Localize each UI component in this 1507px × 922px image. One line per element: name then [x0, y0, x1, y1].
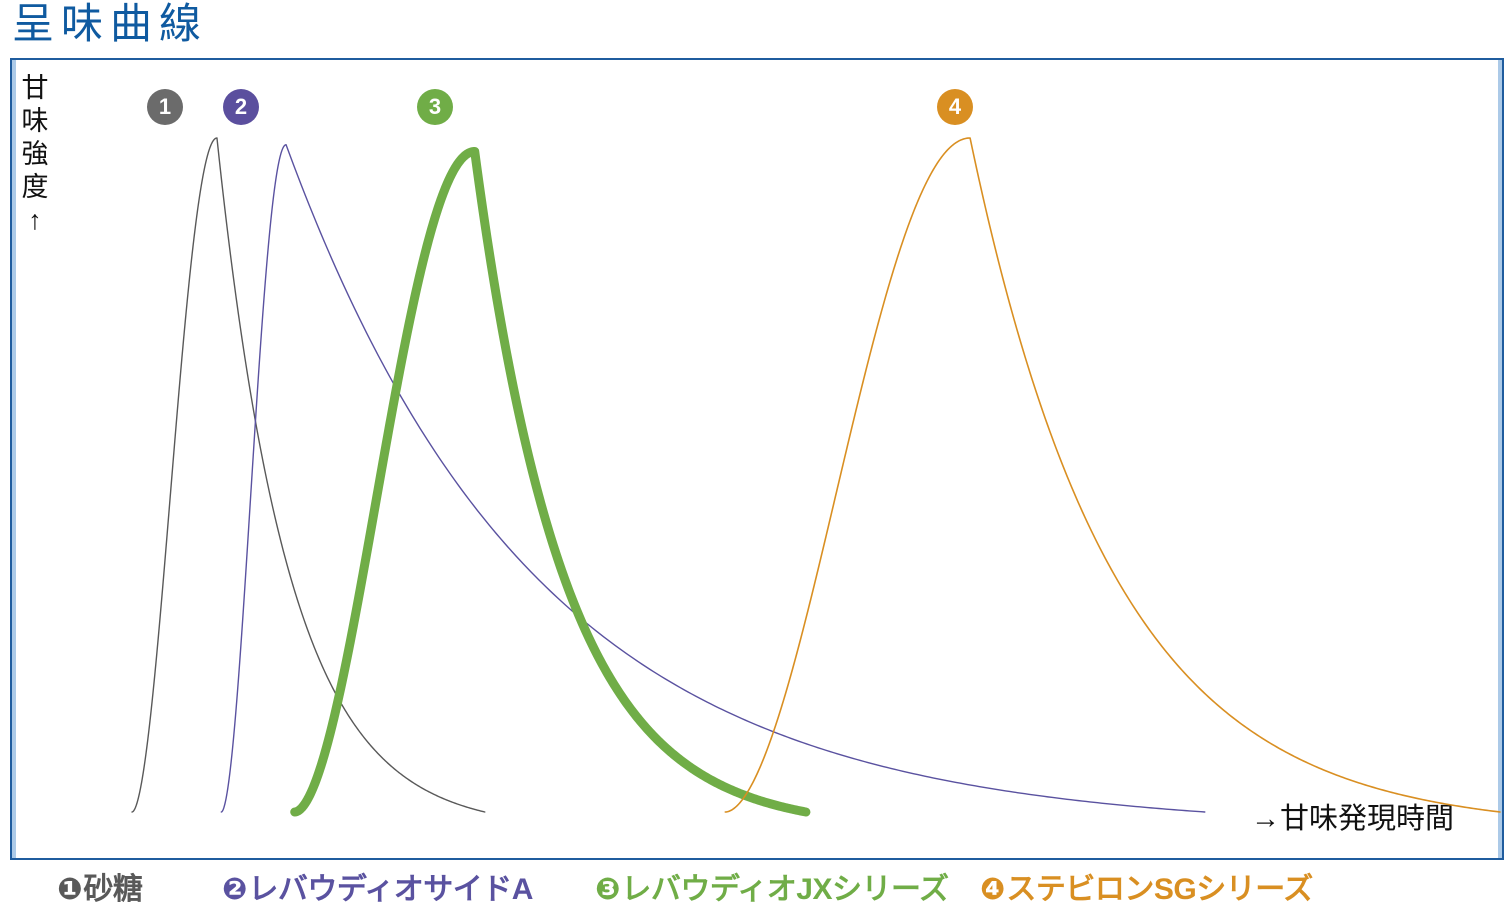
legend-label-1: 砂糖 — [83, 873, 142, 906]
legend-marker-3-icon: ❸ — [595, 873, 620, 906]
y-axis-char-2: 強 — [18, 138, 52, 171]
legend-item-1[interactable]: ❶砂糖 — [57, 868, 142, 912]
y-axis-char-1: 味 — [18, 105, 52, 138]
series-badge-1: 1 — [147, 89, 183, 125]
legend-marker-1-icon: ❶ — [57, 873, 82, 906]
y-axis-char-4: ↑ — [18, 204, 52, 237]
series-badge-2: 2 — [223, 89, 259, 125]
frame-accent-right — [1498, 60, 1502, 858]
chart-legend: ❶砂糖❷レバウディオサイドA❸レバウディオJXシリーズ❹ステビロンSGシリーズ — [0, 868, 1507, 922]
legend-item-4[interactable]: ❹ステビロンSGシリーズ — [980, 868, 1313, 912]
legend-marker-4-icon: ❹ — [980, 873, 1005, 906]
y-axis-label: 甘 味 強 度 ↑ — [18, 72, 52, 237]
series-badge-4: 4 — [937, 89, 973, 125]
x-axis-label: →甘味発現時間 — [1251, 802, 1454, 836]
legend-label-3: レバウディオJXシリーズ — [621, 873, 948, 906]
frame-accent-left — [12, 60, 16, 858]
series-badge-3: 3 — [417, 89, 453, 125]
legend-item-3[interactable]: ❸レバウディオJXシリーズ — [595, 868, 949, 912]
y-axis-char-3: 度 — [18, 171, 52, 204]
chart-page: 呈味曲線 甘 味 強 度 ↑ →甘味発現時間 1234 ❶砂糖❷レバウディオサイ… — [0, 0, 1507, 922]
legend-marker-2-icon: ❷ — [222, 873, 247, 906]
page-title: 呈味曲線 — [12, 0, 208, 50]
y-axis-char-0: 甘 — [18, 72, 52, 105]
legend-label-4: ステビロンSGシリーズ — [1006, 873, 1312, 906]
legend-item-2[interactable]: ❷レバウディオサイドA — [222, 868, 533, 912]
legend-label-2: レバウディオサイドA — [248, 873, 533, 906]
plot-area-frame — [10, 58, 1504, 860]
